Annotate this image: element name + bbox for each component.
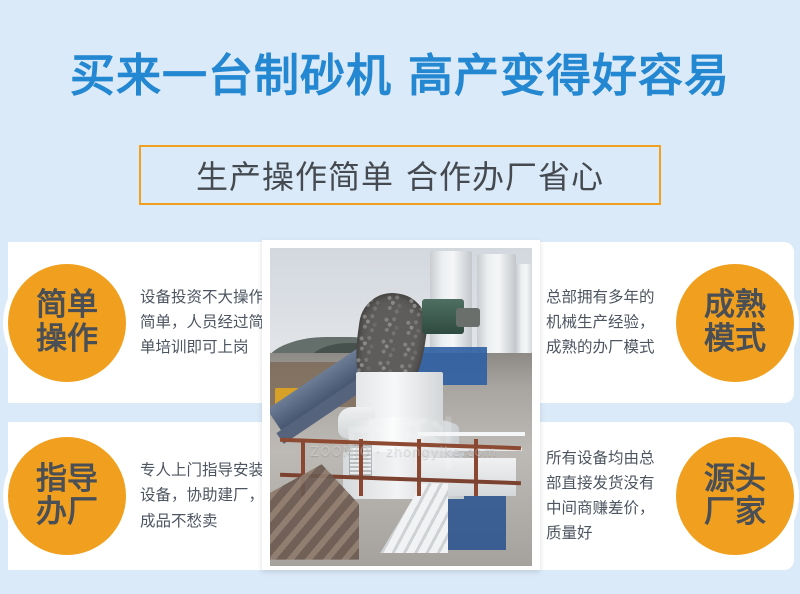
product-photo: 中科 ZOOMJO · zhongyike.com [270,248,532,566]
feature-badge: 指导 办厂 [8,437,126,555]
feature-card-mature-model: 成熟 模式 总部拥有多年的机械生产经验，成熟的办厂模式 [532,242,794,403]
badge-line-1: 简单 [36,289,98,322]
badge-line-1: 成熟 [704,289,766,322]
subtitle-part2: 合作办厂省心 [406,158,604,196]
badge-line-2: 厂家 [704,496,766,529]
feature-badge: 简单 操作 [8,264,126,382]
page-title: 买来一台制砂机高产变得好容易 [0,52,800,99]
badge-line-1: 指导 [36,463,98,496]
feature-badge: 成熟 模式 [676,264,794,382]
subtitle-banner: 生产操作简单合作办厂省心 [139,145,661,205]
feature-description: 设备投资不大操作简单，人员经过简单培训即可上岗 [126,285,276,360]
badge-line-2: 模式 [704,323,766,356]
badge-line-2: 办厂 [36,496,98,529]
feature-description: 总部拥有多年的机械生产经验，成熟的办厂模式 [532,285,676,360]
product-photo-frame: 中科 ZOOMJO · zhongyike.com [262,240,540,570]
photo-watermark: ZOOMJO · zhongyike.com [291,445,516,460]
photo-motor-shaft [456,308,480,327]
feature-description: 专人上门指导安装设备，协助建厂，成品不愁卖 [126,458,276,533]
feature-badge: 源头 厂家 [676,437,794,555]
headline-part1: 买来一台制砂机 [70,49,392,102]
feature-description: 所有设备均由总部直接发货没有中间商赚差价，质量好 [532,446,676,546]
badge-line-1: 源头 [704,463,766,496]
subtitle-text: 生产操作简单合作办厂省心 [196,152,604,198]
headline-part2: 高产变得好容易 [408,49,730,102]
feature-card-source-manufacturer: 源头 厂家 所有设备均由总部直接发货没有中间商赚差价，质量好 [532,422,794,570]
feature-card-simple-operation: 简单 操作 设备投资不大操作简单，人员经过简单培训即可上岗 [8,242,276,403]
promo-poster: 买来一台制砂机高产变得好容易 生产操作简单合作办厂省心 简单 操作 设备投资不大… [0,0,800,594]
badge-line-2: 操作 [36,323,98,356]
subtitle-part1: 生产操作简单 [196,158,394,196]
feature-card-factory-guidance: 指导 办厂 专人上门指导安装设备，协助建厂，成品不愁卖 [8,422,276,570]
